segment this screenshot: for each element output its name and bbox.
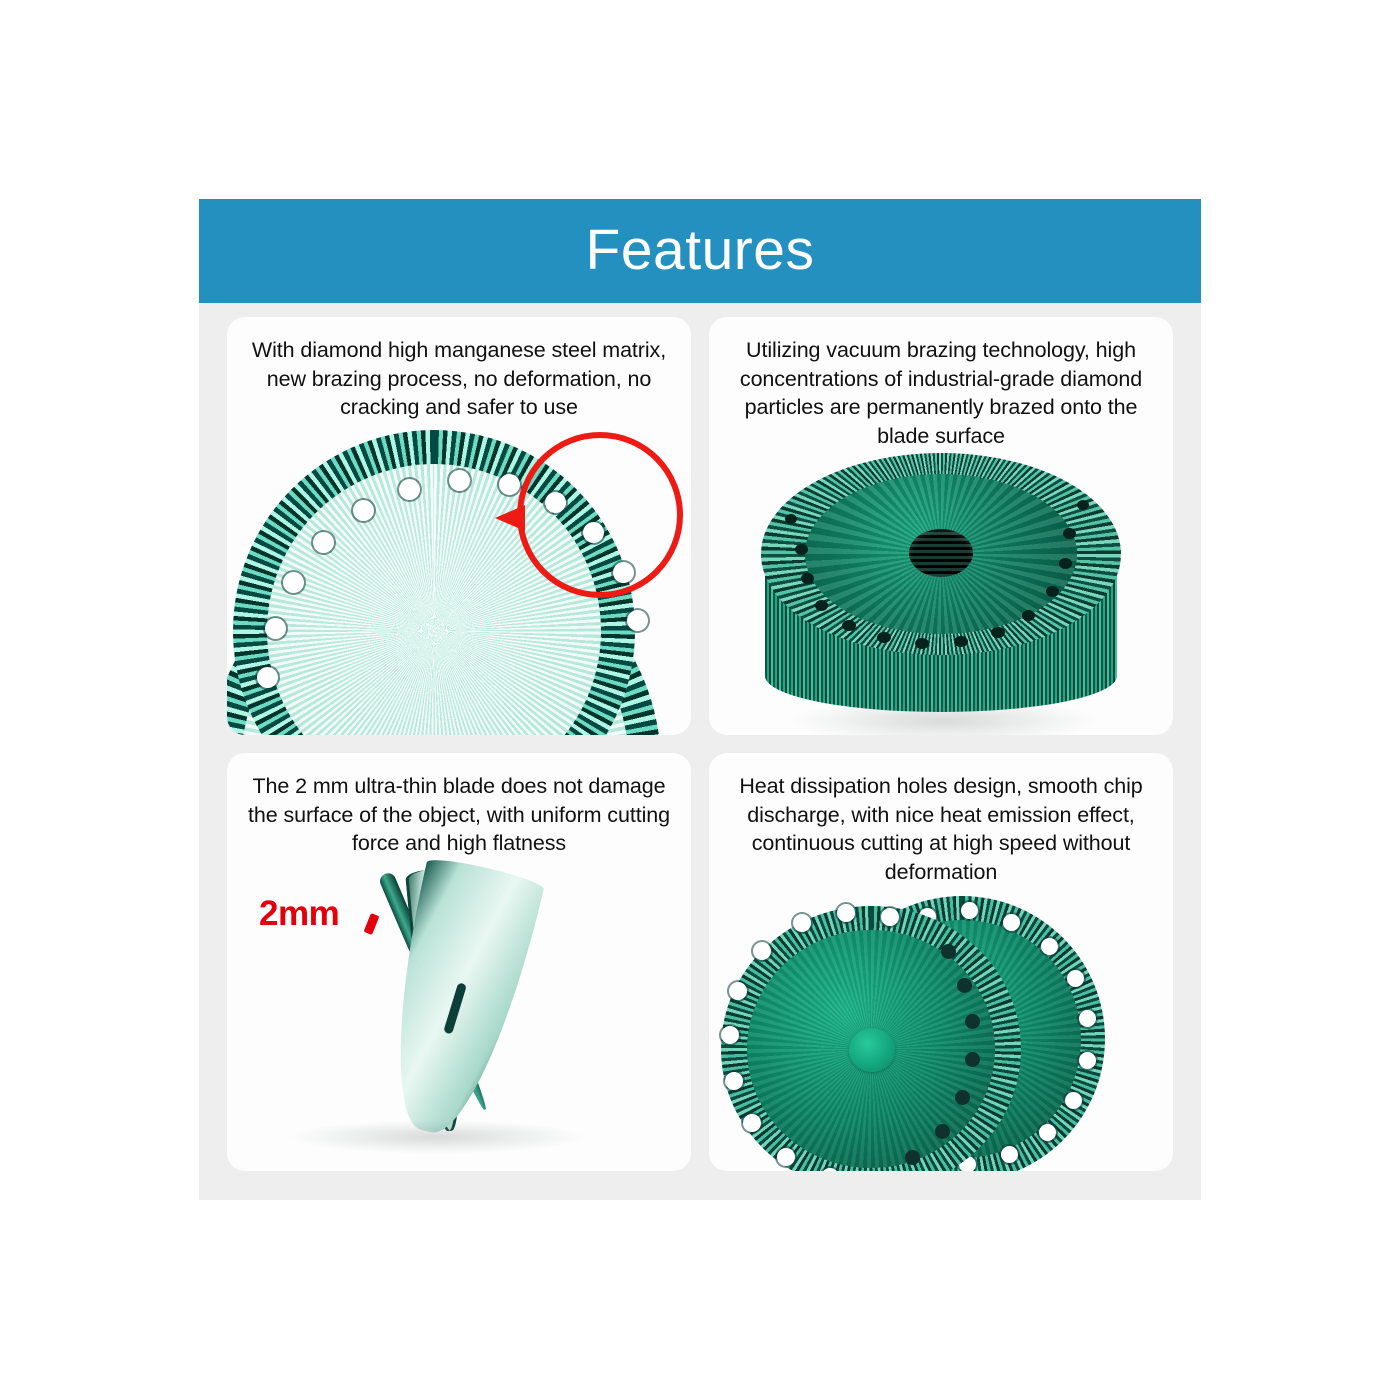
heat-hole <box>753 942 771 960</box>
side-hole <box>801 573 814 584</box>
side-hole <box>877 632 891 643</box>
blade-hole <box>627 610 648 631</box>
heat-hole <box>1079 1052 1096 1069</box>
side-hole <box>1059 558 1072 569</box>
blade-hole <box>313 532 334 553</box>
thin-blades-image: 2mm <box>227 858 691 1172</box>
heat-hole <box>881 908 899 926</box>
side-hole <box>915 638 929 649</box>
heat-hole <box>743 1114 761 1132</box>
heat-hole <box>793 914 811 932</box>
side-hole <box>795 544 808 555</box>
blade-hole <box>449 470 470 491</box>
heat-hole <box>1041 938 1058 955</box>
heat-hole <box>777 1148 795 1166</box>
brazed-cylinder-image <box>709 450 1173 735</box>
blade-hole <box>399 479 420 500</box>
threaded-center-hole <box>909 529 973 577</box>
side-hole <box>1022 610 1035 621</box>
blade-hole <box>499 474 520 495</box>
heat-hole <box>957 978 972 993</box>
feature-card-ultra-thin-text: The 2 mm ultra-thin blade does not damag… <box>241 753 677 858</box>
heat-hole <box>1065 1092 1082 1109</box>
heat-hole <box>725 1072 743 1090</box>
thickness-tick-marker <box>364 913 380 935</box>
blade-hole <box>283 572 304 593</box>
infographic-page: Features With diamond high manganese ste… <box>0 0 1400 1400</box>
side-hole <box>954 636 968 647</box>
side-hole <box>1077 500 1089 510</box>
heat-hole <box>941 944 956 959</box>
feature-card-matrix-text: With diamond high manganese steel matrix… <box>241 317 677 422</box>
diamond-grit-magnifier <box>517 432 683 598</box>
heat-hole <box>1079 1010 1096 1027</box>
features-panel: Features With diamond high manganese ste… <box>199 199 1201 1200</box>
thickness-label: 2mm <box>259 894 339 934</box>
diamond-grit-texture <box>523 438 677 592</box>
heat-hole <box>721 1026 739 1044</box>
page-title: Features <box>586 222 815 279</box>
blade-hole <box>353 500 374 521</box>
side-hole <box>785 514 797 524</box>
heat-hole <box>837 904 855 922</box>
blade-hole <box>257 667 278 688</box>
feature-card-vacuum-brazing-text: Utilizing vacuum brazing technology, hig… <box>723 317 1159 450</box>
feature-card-matrix: With diamond high manganese steel matrix… <box>227 317 691 735</box>
drop-shadow <box>287 1120 587 1154</box>
side-hole <box>1046 586 1059 597</box>
stacked-diamond-blades-image <box>227 422 691 736</box>
front-disc-hub <box>849 1028 895 1072</box>
side-hole <box>1063 528 1076 539</box>
side-hole <box>842 620 856 631</box>
feature-card-heat-dissipation: Heat dissipation holes design, smooth ch… <box>709 753 1173 1171</box>
blade-hole <box>265 618 286 639</box>
heat-hole <box>935 1124 950 1139</box>
side-hole <box>991 627 1005 638</box>
side-hole <box>815 600 828 611</box>
heat-hole <box>1039 1124 1056 1141</box>
heat-hole <box>955 1090 970 1105</box>
heat-hole <box>965 1052 980 1067</box>
heat-hole <box>1067 970 1084 987</box>
heat-hole <box>965 1014 980 1029</box>
feature-card-vacuum-brazing: Utilizing vacuum brazing technology, hig… <box>709 317 1173 735</box>
feature-card-ultra-thin: The 2 mm ultra-thin blade does not damag… <box>227 753 691 1171</box>
heat-hole <box>1003 914 1020 931</box>
heat-hole <box>961 902 978 919</box>
perforated-discs-image <box>709 886 1173 1171</box>
heat-hole <box>729 982 747 1000</box>
feature-card-grid: With diamond high manganese steel matrix… <box>227 317 1173 1171</box>
features-banner: Features <box>199 199 1201 303</box>
feature-card-heat-dissipation-text: Heat dissipation holes design, smooth ch… <box>723 753 1159 886</box>
heat-hole <box>1001 1146 1018 1163</box>
heat-hole <box>905 1150 920 1165</box>
